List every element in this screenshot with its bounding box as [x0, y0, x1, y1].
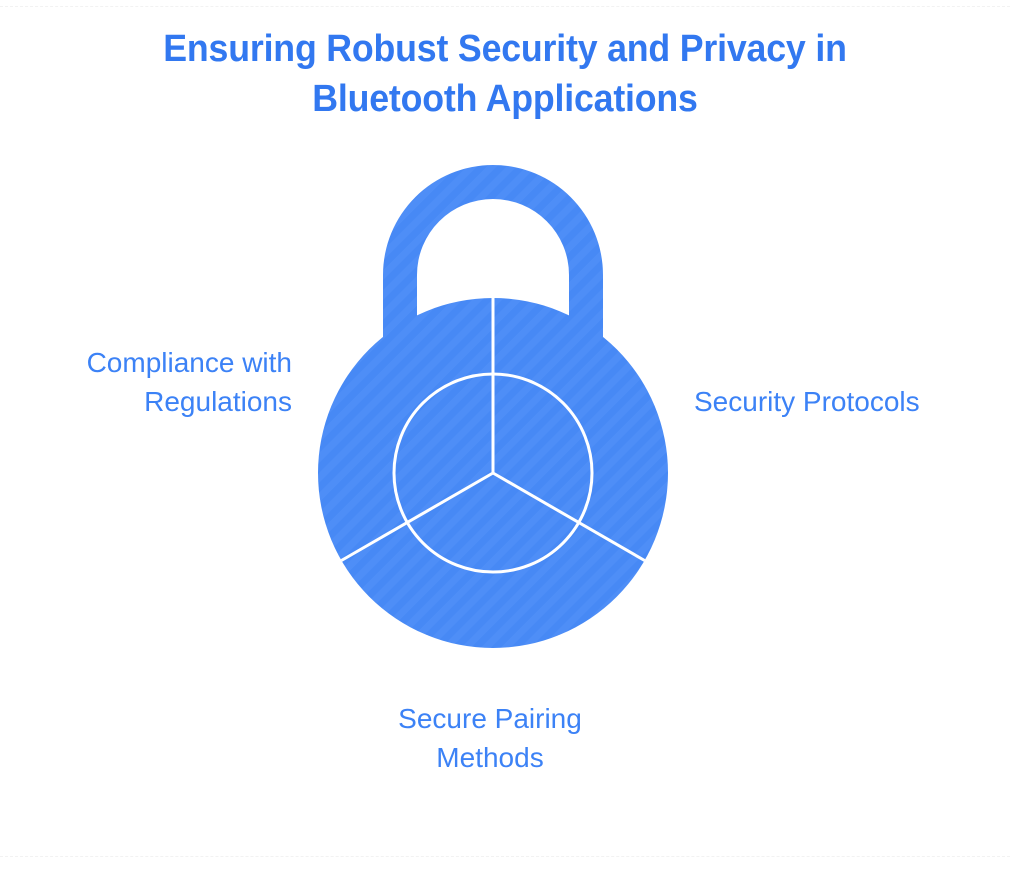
segment-label-security-protocols: Security Protocols	[694, 382, 1010, 421]
segment-label-compliance: Compliance with Regulations	[12, 343, 292, 421]
segment-label-secure-pairing: Secure Pairing Methods	[343, 699, 637, 777]
diagram-canvas: Ensuring Robust Security and Privacy in …	[0, 0, 1010, 870]
crop-mark-bottom	[0, 856, 1010, 858]
